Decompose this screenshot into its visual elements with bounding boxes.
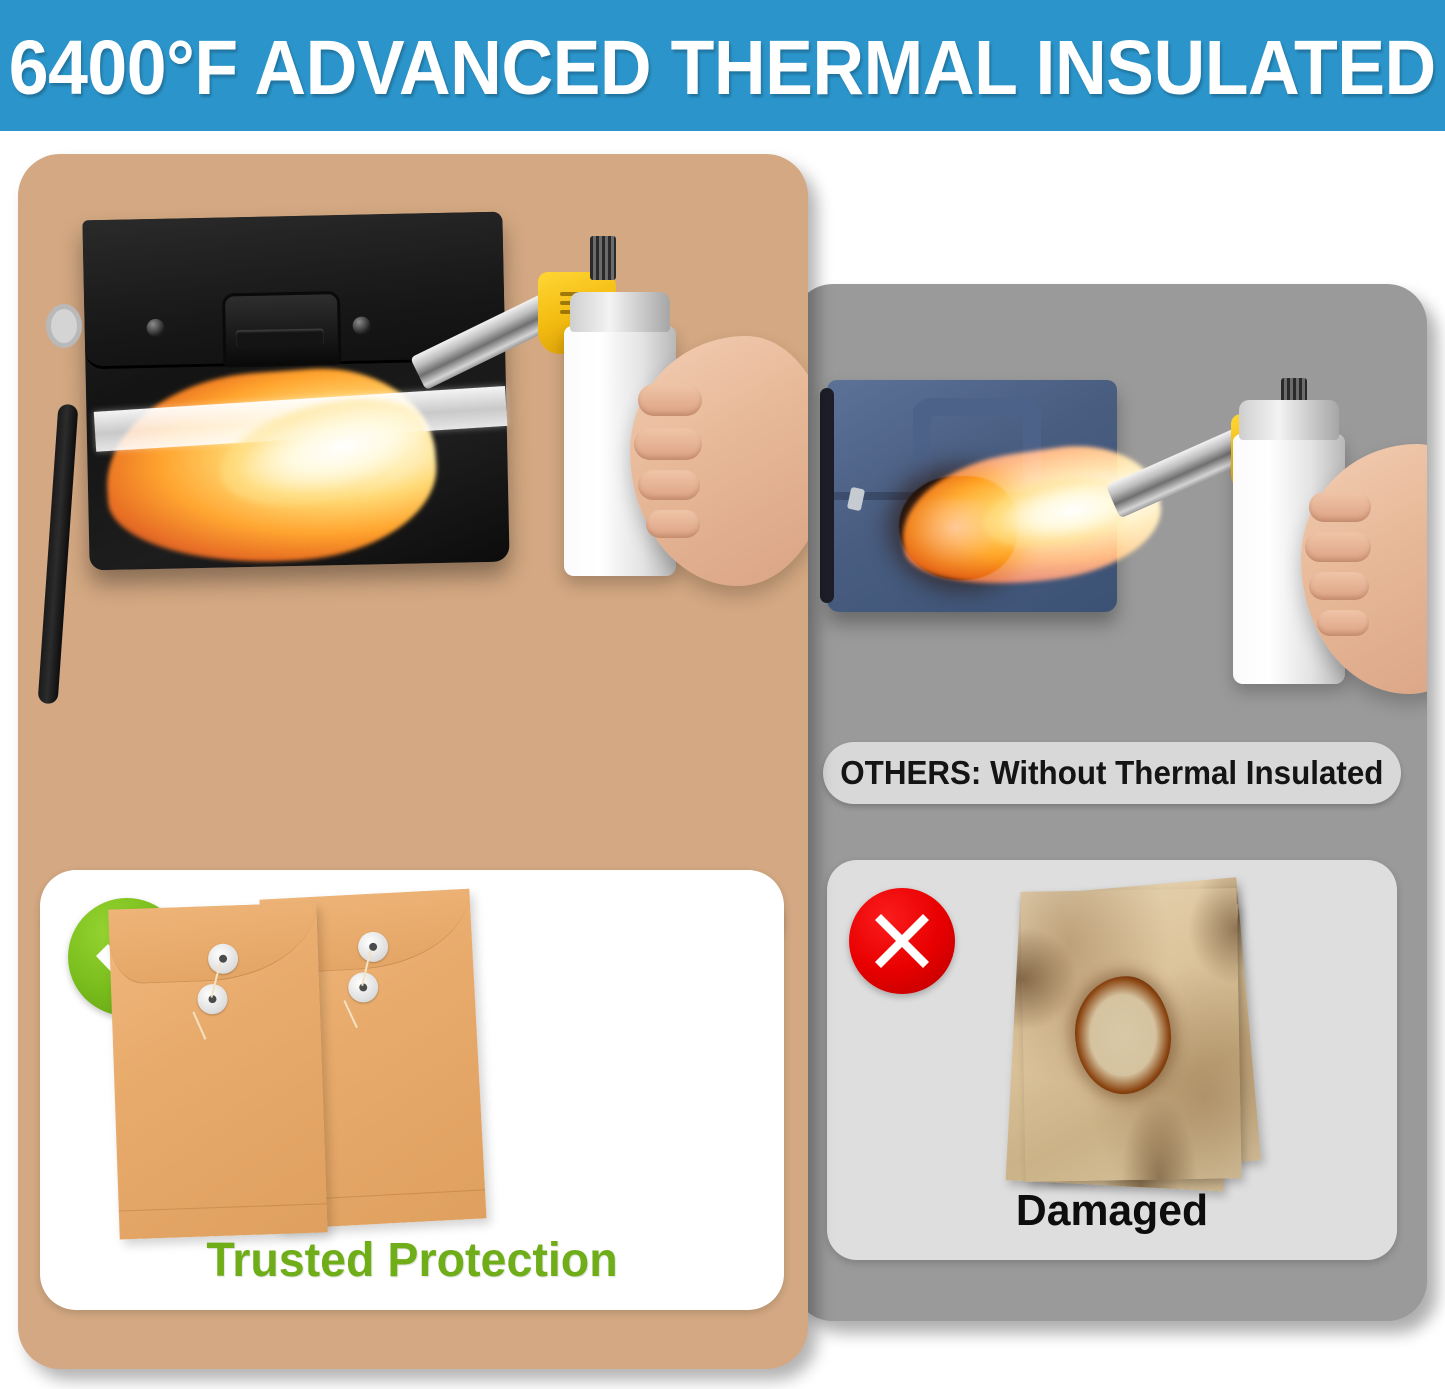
our-result-card: Trusted Protection — [40, 870, 784, 1310]
bag-handle-left — [913, 404, 931, 482]
others-label-text: OTHERS: Without Thermal Insulated — [840, 754, 1383, 792]
burnt-paper-front — [1020, 888, 1241, 1182]
finger — [1309, 492, 1371, 522]
others-result-card: Damaged — [827, 860, 1397, 1260]
others-label-pill: OTHERS: Without Thermal Insulated — [823, 742, 1401, 804]
finger — [634, 428, 702, 460]
canister-collar — [1239, 400, 1339, 440]
wrist-strap — [38, 404, 79, 705]
page-title: 6400°F ADVANCED THERMAL INSULATED — [9, 30, 1436, 107]
our-comparison-panel: OUR: Fire Bag-Top Thermal Insulated Trus… — [18, 154, 808, 1369]
kraft-envelope-front — [108, 902, 327, 1239]
finger — [638, 384, 702, 416]
combination-lock-icon — [222, 291, 342, 367]
our-burn-test-scene — [18, 154, 808, 714]
strap-clip — [46, 304, 82, 348]
others-result-caption: Damaged — [836, 1186, 1389, 1236]
header-banner: 6400°F ADVANCED THERMAL INSULATED — [0, 0, 1445, 131]
finger — [1317, 610, 1369, 636]
our-result-caption: Trusted Protection — [51, 1233, 773, 1288]
x-circle-icon — [849, 888, 955, 994]
finger — [638, 470, 700, 500]
envelope-seam — [119, 1203, 327, 1211]
envelope-string-tail — [343, 1000, 357, 1028]
torch-nozzle — [590, 236, 616, 280]
canister-collar — [570, 292, 670, 332]
finger — [1309, 572, 1369, 600]
bag-handle-top — [913, 398, 1041, 416]
others-burn-test-scene — [793, 284, 1427, 734]
finger — [646, 510, 700, 538]
envelope-string-tail — [192, 1012, 206, 1040]
others-comparison-panel: OTHERS: Without Thermal Insulated Damage… — [793, 284, 1427, 1321]
finger — [1305, 532, 1371, 562]
envelope-flap — [108, 902, 318, 984]
bag-zipper-pull — [847, 487, 865, 511]
